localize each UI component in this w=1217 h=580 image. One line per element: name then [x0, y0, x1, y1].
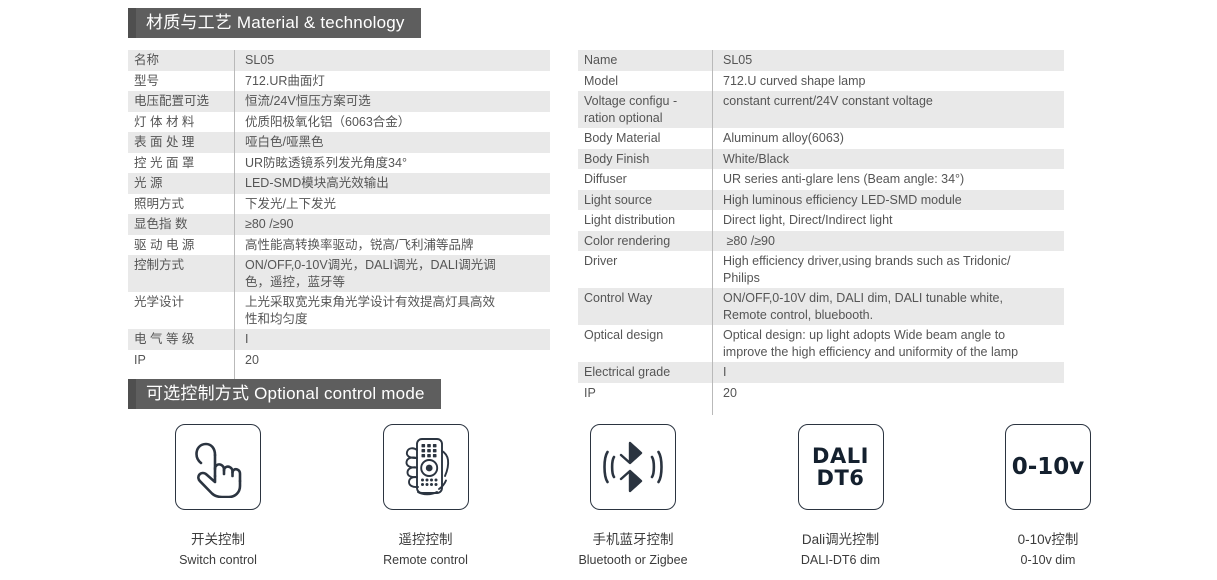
table-row: Body FinishWhite/Black — [578, 149, 1064, 170]
zero-to-ten-volt-text-icon[interactable]: 0-10v — [1005, 424, 1091, 510]
section-header-control-mode: 可选控制方式 Optional control mode — [128, 379, 441, 409]
control-mode-label-en: 0-10v dim — [1021, 553, 1076, 567]
spec-label: 驱 动 电 源 — [128, 235, 234, 256]
table-row: Optical designOptical design: up light a… — [578, 325, 1064, 362]
spec-label: 电 气 等 级 — [128, 329, 234, 350]
control-mode-item[interactable]: 开关控制Switch control — [128, 424, 308, 567]
table-row: 名称SL05 — [128, 50, 550, 71]
spec-label: Optical design — [578, 325, 712, 362]
control-mode-label-cn: 开关控制 — [191, 528, 245, 548]
spec-label: IP — [578, 383, 712, 404]
table-row: 光 源LED-SMD模块高光效输出 — [128, 173, 550, 194]
spec-value: High luminous efficiency LED-SMD module — [712, 190, 1064, 211]
control-mode-label-en: Remote control — [383, 553, 468, 567]
dali-dt6-text-icon-text: DALIDT6 — [812, 445, 869, 489]
zero-to-ten-volt-text-icon-text: 0-10v — [1012, 455, 1085, 479]
spec-label: 显色指 数 — [128, 214, 234, 235]
table-rule-tail — [578, 403, 1064, 415]
spec-value: Aluminum alloy(6063) — [712, 128, 1064, 149]
table-row: Color rendering ≥80 /≥90 — [578, 231, 1064, 252]
spec-value: 上光采取宽光束角光学设计有效提高灯具高效 性和均匀度 — [234, 292, 550, 329]
control-mode-item[interactable]: 遥控控制Remote control — [336, 424, 516, 567]
table-row: Body MaterialAluminum alloy(6063) — [578, 128, 1064, 149]
spec-value: 优质阳极氧化铝（6063合金） — [234, 112, 550, 133]
table-row: Light distributionDirect light, Direct/I… — [578, 210, 1064, 231]
control-mode-label-cn: 手机蓝牙控制 — [593, 528, 674, 548]
spec-table-chinese: 名称SL05型号712.UR曲面灯电压配置可选恒流/24V恒压方案可选灯 体 材… — [128, 50, 550, 382]
bluetooth-signal-icon[interactable] — [590, 424, 676, 510]
table-row: DiffuserUR series anti-glare lens (Beam … — [578, 169, 1064, 190]
control-mode-item[interactable]: DALIDT6Dali调光控制DALI-DT6 dim — [751, 424, 931, 567]
spec-value: Optical design: up light adopts Wide bea… — [712, 325, 1064, 362]
spec-label: Name — [578, 50, 712, 71]
spec-label: Body Material — [578, 128, 712, 149]
spec-value: LED-SMD模块高光效输出 — [234, 173, 550, 194]
spec-label: 光学设计 — [128, 292, 234, 329]
spec-label: Model — [578, 71, 712, 92]
spec-value: ≥80 /≥90 — [234, 214, 550, 235]
spec-value: ON/OFF,0-10V dim, DALI dim, DALI tunable… — [712, 288, 1064, 325]
spec-label: IP — [128, 350, 234, 371]
spec-value: 20 — [712, 383, 1064, 404]
spec-table-english: NameSL05Model712.U curved shape lampVolt… — [578, 50, 1064, 415]
section-header-material: 材质与工艺 Material & technology — [128, 8, 421, 38]
table-row: Light sourceHigh luminous efficiency LED… — [578, 190, 1064, 211]
control-mode-label-cn: Dali调光控制 — [802, 528, 879, 548]
control-mode-item[interactable]: 0-10v0-10v控制0-10v dim — [958, 424, 1138, 567]
spec-label: 电压配置可选 — [128, 91, 234, 112]
spec-value: 哑白色/哑黑色 — [234, 132, 550, 153]
dali-dt6-text-icon[interactable]: DALIDT6 — [798, 424, 884, 510]
table-row: 控制方式ON/OFF,0-10V调光，DALI调光，DALI调光调 色，遥控，蓝… — [128, 255, 550, 292]
table-row: 驱 动 电 源高性能高转换率驱动，锐高/飞利浦等品牌 — [128, 235, 550, 256]
table-row: Electrical gradeI — [578, 362, 1064, 383]
table-row: 控 光 面 罩UR防眩透镜系列发光角度34° — [128, 153, 550, 174]
spec-value: High efficiency driver,using brands such… — [712, 251, 1064, 288]
spec-value: ≥80 /≥90 — [712, 231, 1064, 252]
spec-label: Diffuser — [578, 169, 712, 190]
control-mode-label-en: Switch control — [179, 553, 257, 567]
spec-label: Electrical grade — [578, 362, 712, 383]
control-mode-label-cn: 0-10v控制 — [1018, 528, 1079, 548]
table-row: 照明方式下发光/上下发光 — [128, 194, 550, 215]
spec-label: Driver — [578, 251, 712, 288]
control-mode-list: 开关控制Switch control遥控控制Remote control手机蓝牙… — [128, 424, 1138, 567]
control-mode-label-en: DALI-DT6 dim — [801, 553, 880, 567]
spec-label: 型号 — [128, 71, 234, 92]
spec-value: 20 — [234, 350, 550, 371]
table-row: NameSL05 — [578, 50, 1064, 71]
spec-value: SL05 — [234, 50, 550, 71]
icon-text-line-2: DT6 — [812, 467, 869, 489]
icon-text-line-1: 0-10v — [1012, 455, 1085, 479]
spec-value: Direct light, Direct/Indirect light — [712, 210, 1064, 231]
table-row: 电压配置可选恒流/24V恒压方案可选 — [128, 91, 550, 112]
spec-value: ON/OFF,0-10V调光，DALI调光，DALI调光调 色，遥控，蓝牙等 — [234, 255, 550, 292]
table-row: 显色指 数≥80 /≥90 — [128, 214, 550, 235]
spec-value: 下发光/上下发光 — [234, 194, 550, 215]
table-row: IP20 — [578, 383, 1064, 404]
spec-label: Light distribution — [578, 210, 712, 231]
table-row: Voltage configu - ration optionalconstan… — [578, 91, 1064, 128]
spec-value: SL05 — [712, 50, 1064, 71]
control-mode-item[interactable]: 手机蓝牙控制Bluetooth or Zigbee — [543, 424, 723, 567]
spec-value: 恒流/24V恒压方案可选 — [234, 91, 550, 112]
section-header-cap — [128, 8, 136, 38]
table-row: DriverHigh efficiency driver,using brand… — [578, 251, 1064, 288]
spec-label: 光 源 — [128, 173, 234, 194]
spec-value: constant current/24V constant voltage — [712, 91, 1064, 128]
spec-label: 控制方式 — [128, 255, 234, 292]
spec-label: 控 光 面 罩 — [128, 153, 234, 174]
hand-touch-icon[interactable] — [175, 424, 261, 510]
spec-label: Voltage configu - ration optional — [578, 91, 712, 128]
section-header-cap — [128, 379, 136, 409]
table-row: Control WayON/OFF,0-10V dim, DALI dim, D… — [578, 288, 1064, 325]
spec-label: Control Way — [578, 288, 712, 325]
spec-label: 照明方式 — [128, 194, 234, 215]
table-row: 电 气 等 级I — [128, 329, 550, 350]
spec-label: Color rendering — [578, 231, 712, 252]
table-row: Model712.U curved shape lamp — [578, 71, 1064, 92]
table-row: 灯 体 材 料优质阳极氧化铝（6063合金） — [128, 112, 550, 133]
spec-value: 高性能高转换率驱动，锐高/飞利浦等品牌 — [234, 235, 550, 256]
spec-label: 名称 — [128, 50, 234, 71]
table-row: 光学设计上光采取宽光束角光学设计有效提高灯具高效 性和均匀度 — [128, 292, 550, 329]
control-mode-label-cn: 遥控控制 — [399, 528, 453, 548]
spec-value: 712.U curved shape lamp — [712, 71, 1064, 92]
spec-value: I — [712, 362, 1064, 383]
table-row: 表 面 处 理哑白色/哑黑色 — [128, 132, 550, 153]
spec-label: Body Finish — [578, 149, 712, 170]
table-row: IP20 — [128, 350, 550, 371]
spec-value: UR防眩透镜系列发光角度34° — [234, 153, 550, 174]
control-mode-label-en: Bluetooth or Zigbee — [578, 553, 687, 567]
section-header-material-title: 材质与工艺 Material & technology — [136, 8, 421, 38]
spec-label: 表 面 处 理 — [128, 132, 234, 153]
spec-label: Light source — [578, 190, 712, 211]
spec-label: 灯 体 材 料 — [128, 112, 234, 133]
spec-value: I — [234, 329, 550, 350]
table-row: 型号712.UR曲面灯 — [128, 71, 550, 92]
spec-value: 712.UR曲面灯 — [234, 71, 550, 92]
remote-control-icon[interactable] — [383, 424, 469, 510]
section-header-control-mode-title: 可选控制方式 Optional control mode — [136, 379, 441, 409]
spec-value: White/Black — [712, 149, 1064, 170]
icon-text-line-1: DALI — [812, 445, 869, 467]
spec-value: UR series anti-glare lens (Beam angle: 3… — [712, 169, 1064, 190]
